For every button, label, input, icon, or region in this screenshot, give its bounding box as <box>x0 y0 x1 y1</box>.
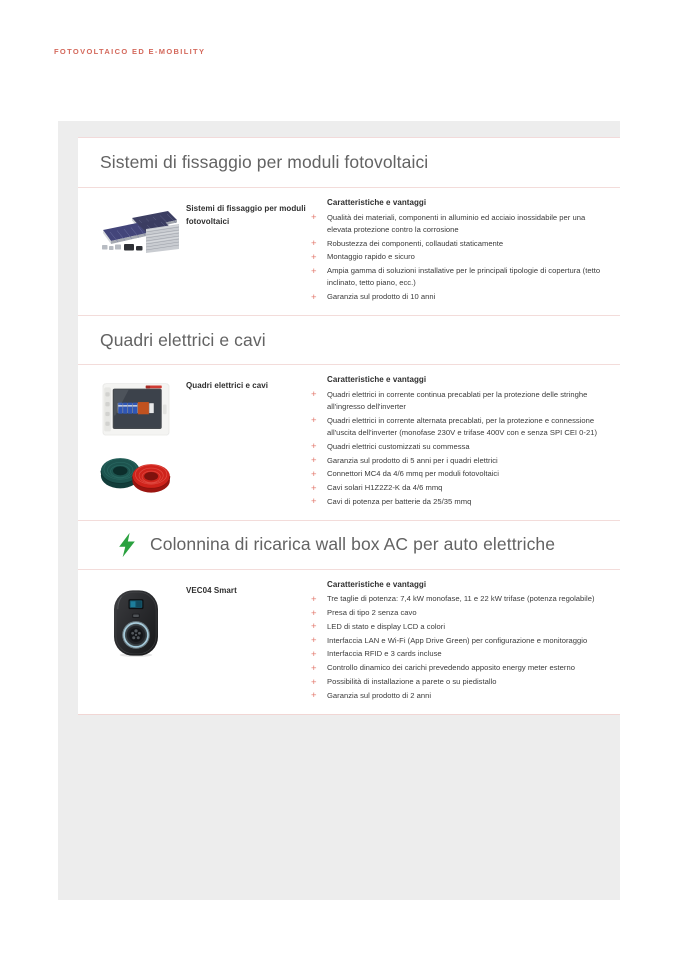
product-image-column <box>86 197 186 305</box>
content-panel: Sistemi di fissaggio per moduli fotovolt… <box>58 121 620 900</box>
features-list: +Tre taglie di potenza: 7,4 kW monofase,… <box>306 593 608 702</box>
plus-icon: + <box>311 454 317 468</box>
feature-item: +Montaggio rapido e sicuro <box>306 251 608 263</box>
feature-text: Quadri elettrici customizzati su commess… <box>327 442 470 451</box>
section-title-row: Colonnina di ricarica wall box AC per au… <box>78 520 620 569</box>
product-image-column <box>86 579 186 704</box>
feature-item: +Quadri elettrici in corrente alternata … <box>306 415 608 440</box>
feature-item: +Interfaccia RFID e 3 cards incluse <box>306 648 608 660</box>
plus-icon: + <box>311 482 317 496</box>
feature-item: +Tre taglie di potenza: 7,4 kW monofase,… <box>306 593 608 605</box>
feature-item: +Presa di tipo 2 senza cavo <box>306 607 608 619</box>
features-column: Caratteristiche e vantaggi +Qualità dei … <box>306 197 612 305</box>
lightning-bolt-icon <box>116 532 138 558</box>
plus-icon: + <box>311 689 317 703</box>
plus-icon: + <box>311 648 317 662</box>
features-heading: Caratteristiche e vantaggi <box>327 198 608 207</box>
feature-text: LED di stato e display LCD a colori <box>327 622 445 631</box>
feature-text: Cavi solari H1Z2Z2-K da 4/6 mmq <box>327 483 442 492</box>
product-section-fixing-systems: Sistemi di fissaggio per moduli fotovolt… <box>78 138 620 315</box>
plus-icon: + <box>311 414 317 428</box>
plus-icon: + <box>311 662 317 676</box>
feature-text: Cavi di potenza per batterie da 25/35 mm… <box>327 497 471 506</box>
plus-icon: + <box>311 676 317 690</box>
wallbox-charger-image <box>109 587 163 659</box>
section-title-row: Quadri elettrici e cavi <box>78 315 620 364</box>
plus-icon: + <box>311 237 317 251</box>
feature-item: +Cavi di potenza per batterie da 25/35 m… <box>306 496 608 508</box>
feature-text: Garanzia sul prodotto di 2 anni <box>327 691 431 700</box>
features-list: +Quadri elettrici in corrente continua p… <box>306 389 608 509</box>
feature-text: Robustezza dei componenti, collaudati st… <box>327 239 503 248</box>
product-section-wallbox-charger: Colonnina di ricarica wall box AC per au… <box>78 520 620 714</box>
plus-icon: + <box>311 607 317 621</box>
plus-icon: + <box>311 440 317 454</box>
plus-icon: + <box>311 388 317 402</box>
feature-text: Controllo dinamico dei carichi prevedend… <box>327 663 575 672</box>
feature-item: +Quadri elettrici customizzati su commes… <box>306 441 608 453</box>
feature-item: +Robustezza dei componenti, collaudati s… <box>306 238 608 250</box>
feature-item: +Garanzia sul prodotto di 10 anni <box>306 291 608 303</box>
feature-text: Quadri elettrici in corrente alternata p… <box>327 416 597 437</box>
feature-item: +Quadri elettrici in corrente continua p… <box>306 389 608 414</box>
section-title: Colonnina di ricarica wall box AC per au… <box>150 534 555 555</box>
solar-mounting-system-image <box>93 201 179 257</box>
feature-item: +Controllo dinamico dei carichi preveden… <box>306 662 608 674</box>
feature-item: +Qualità dei materiali, componenti in al… <box>306 212 608 237</box>
features-column: Caratteristiche e vantaggi +Quadri elett… <box>306 374 612 510</box>
feature-text: Interfaccia RFID e 3 cards incluse <box>327 649 442 658</box>
feature-item: +Connettori MC4 da 4/6 mmq per moduli fo… <box>306 468 608 480</box>
plus-icon: + <box>311 634 317 648</box>
features-heading: Caratteristiche e vantaggi <box>327 375 608 384</box>
product-image-column <box>86 374 186 510</box>
feature-text: Presa di tipo 2 senza cavo <box>327 608 417 617</box>
cable-coils-image <box>93 449 179 495</box>
feature-item: +Garanzia sul prodotto di 2 anni <box>306 690 608 702</box>
product-name: Sistemi di fissaggio per moduli fotovolt… <box>186 197 306 305</box>
section-body: Sistemi di fissaggio per moduli fotovolt… <box>78 187 620 315</box>
feature-text: Possibilità di installazione a parete o … <box>327 677 497 686</box>
feature-text: Connettori MC4 da 4/6 mmq per moduli fot… <box>327 469 499 478</box>
feature-text: Qualità dei materiali, componenti in all… <box>327 213 585 234</box>
feature-item: +LED di stato e display LCD a colori <box>306 621 608 633</box>
feature-text: Montaggio rapido e sicuro <box>327 252 415 261</box>
plus-icon: + <box>311 211 317 225</box>
electrical-panel-and-cables-image <box>99 380 173 440</box>
features-heading: Caratteristiche e vantaggi <box>327 580 608 589</box>
features-list: +Qualità dei materiali, componenti in al… <box>306 212 608 304</box>
product-name: VEC04 Smart <box>186 579 306 704</box>
product-section-switchboards-cables: Quadri elettrici e cavi <box>78 315 620 520</box>
feature-item: +Ampia gamma di soluzioni installative p… <box>306 265 608 290</box>
section-title-row: Sistemi di fissaggio per moduli fotovolt… <box>78 138 620 187</box>
plus-icon: + <box>311 291 317 305</box>
running-header: FOTOVOLTAICO ED E-MOBILITY <box>54 47 205 56</box>
feature-text: Garanzia sul prodotto di 5 anni per i qu… <box>327 456 498 465</box>
feature-text: Tre taglie di potenza: 7,4 kW monofase, … <box>327 594 595 603</box>
plus-icon: + <box>311 620 317 634</box>
product-card: Sistemi di fissaggio per moduli fotovolt… <box>78 137 620 715</box>
feature-text: Interfaccia LAN e Wi-Fi (App Drive Green… <box>327 636 587 645</box>
product-name: Quadri elettrici e cavi <box>186 374 306 510</box>
feature-text: Garanzia sul prodotto di 10 anni <box>327 292 435 301</box>
feature-item: +Garanzia sul prodotto di 5 anni per i q… <box>306 455 608 467</box>
feature-item: +Interfaccia LAN e Wi-Fi (App Drive Gree… <box>306 635 608 647</box>
plus-icon: + <box>311 265 317 279</box>
feature-item: +Cavi solari H1Z2Z2-K da 4/6 mmq <box>306 482 608 494</box>
plus-icon: + <box>311 251 317 265</box>
plus-icon: + <box>311 593 317 607</box>
plus-icon: + <box>311 468 317 482</box>
features-column: Caratteristiche e vantaggi +Tre taglie d… <box>306 579 612 704</box>
feature-item: +Possibilità di installazione a parete o… <box>306 676 608 688</box>
feature-text: Quadri elettrici in corrente continua pr… <box>327 390 587 411</box>
feature-text: Ampia gamma di soluzioni installative pe… <box>327 266 600 287</box>
section-body: VEC04 Smart Caratteristiche e vantaggi +… <box>78 569 620 714</box>
section-body: Quadri elettrici e cavi Caratteristiche … <box>78 364 620 520</box>
plus-icon: + <box>311 495 317 509</box>
section-title: Sistemi di fissaggio per moduli fotovolt… <box>100 152 428 173</box>
section-title: Quadri elettrici e cavi <box>100 330 266 351</box>
